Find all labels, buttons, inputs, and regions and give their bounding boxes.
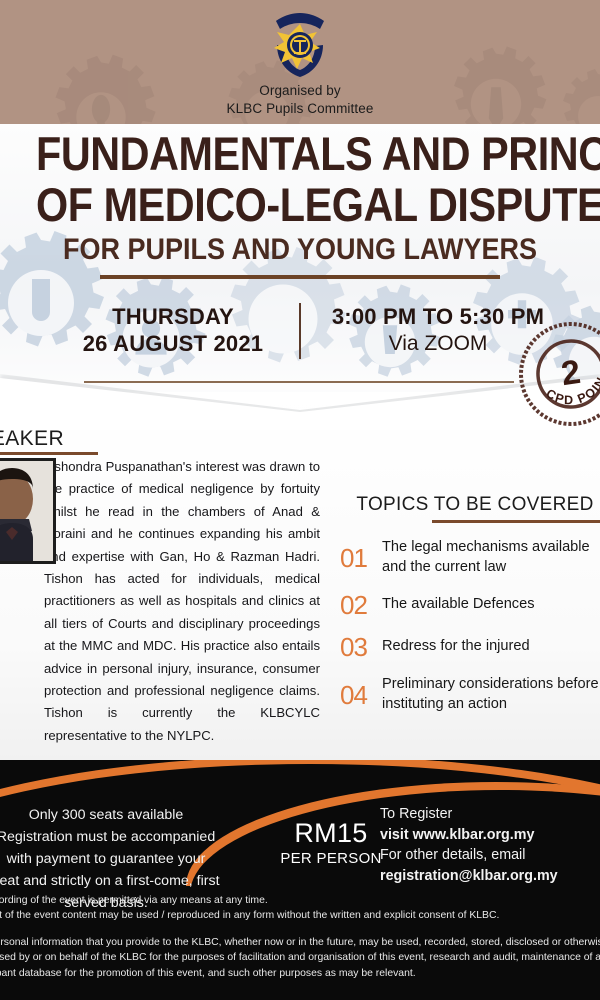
speaker-heading-underline [0, 452, 98, 455]
topic-number: 01 [340, 544, 382, 572]
list-item: 01 The legal mechanisms available and th… [340, 538, 600, 577]
organiser-name: KLBC Pupils Committee [0, 100, 600, 118]
fineprint-line-2: No part of the event content may be used… [0, 908, 600, 923]
list-item: 04 Preliminary considerations before ins… [340, 675, 600, 714]
event-date-block: THURSDAY 26 AUGUST 2021 [47, 303, 299, 359]
speaker-heading: SPEAKER [0, 427, 64, 451]
fineprint-line-3: Any personal information that you provid… [0, 935, 600, 981]
topic-text: The legal mechanisms available and the c… [382, 538, 600, 577]
list-item: 03 Redress for the injured [340, 633, 600, 661]
topic-number: 03 [340, 633, 382, 661]
seats-line-3: with payment to guarantee your [0, 848, 256, 870]
fine-print: No recording of the event is permitted v… [0, 893, 600, 981]
event-day: THURSDAY [47, 303, 299, 330]
speaker-bio-text: Tishondra Puspanathan's interest was dra… [44, 456, 320, 747]
topics-heading: TOPICS TO BE COVERED [330, 494, 600, 516]
topic-number: 02 [340, 591, 382, 619]
details-underline [84, 381, 514, 383]
footer-section: Only 300 seats available Registration mu… [0, 760, 600, 1000]
event-date: 26 AUGUST 2021 [47, 330, 299, 357]
organiser-block: Organised by KLBC Pupils Committee [0, 82, 600, 118]
list-item: 02 The available Defences [340, 591, 600, 619]
seats-line-2: Registration must be accompanied [0, 826, 256, 848]
topic-text: The available Defences [382, 595, 535, 615]
title-line-1: FUNDAMENTALS AND PRINCIPLES [36, 128, 564, 179]
registration-info: To Register visit www.klbar.org.my For o… [380, 804, 600, 886]
register-email[interactable]: registration@klbar.org.my [380, 868, 558, 884]
title-subtitle: FOR PUPILS AND YOUNG LAWYERS [30, 230, 570, 270]
title-line-2: OF MEDICO-LEGAL DISPUTES [36, 179, 564, 230]
seats-line-1: Only 300 seats available [0, 804, 256, 826]
seats-line-4: seat and strictly on a first-come, first [0, 870, 256, 892]
cpd-points-value: 2 [559, 353, 583, 393]
title-divider [100, 275, 500, 279]
topics-heading-underline [432, 520, 600, 523]
topic-number: 04 [340, 681, 382, 709]
klbc-crest-logo-icon [269, 11, 331, 79]
speaker-portrait [0, 458, 56, 564]
cpd-points-stamp: 2 CPD POINTS [509, 312, 600, 436]
topic-text: Redress for the injured [382, 637, 530, 657]
register-heading: To Register [380, 804, 600, 825]
topics-list: 01 The legal mechanisms available and th… [340, 538, 600, 728]
title-block: FUNDAMENTALS AND PRINCIPLES OF MEDICO-LE… [0, 128, 600, 279]
event-poster: Organised by KLBC Pupils Committee FUNDA… [0, 0, 600, 1000]
organised-by-label: Organised by [0, 82, 600, 100]
topic-text: Preliminary considerations before instit… [382, 675, 600, 714]
fineprint-line-1: No recording of the event is permitted v… [0, 893, 600, 908]
register-other-details: For other details, email [380, 845, 600, 866]
register-website[interactable]: visit www.klbar.org.my [380, 827, 534, 843]
